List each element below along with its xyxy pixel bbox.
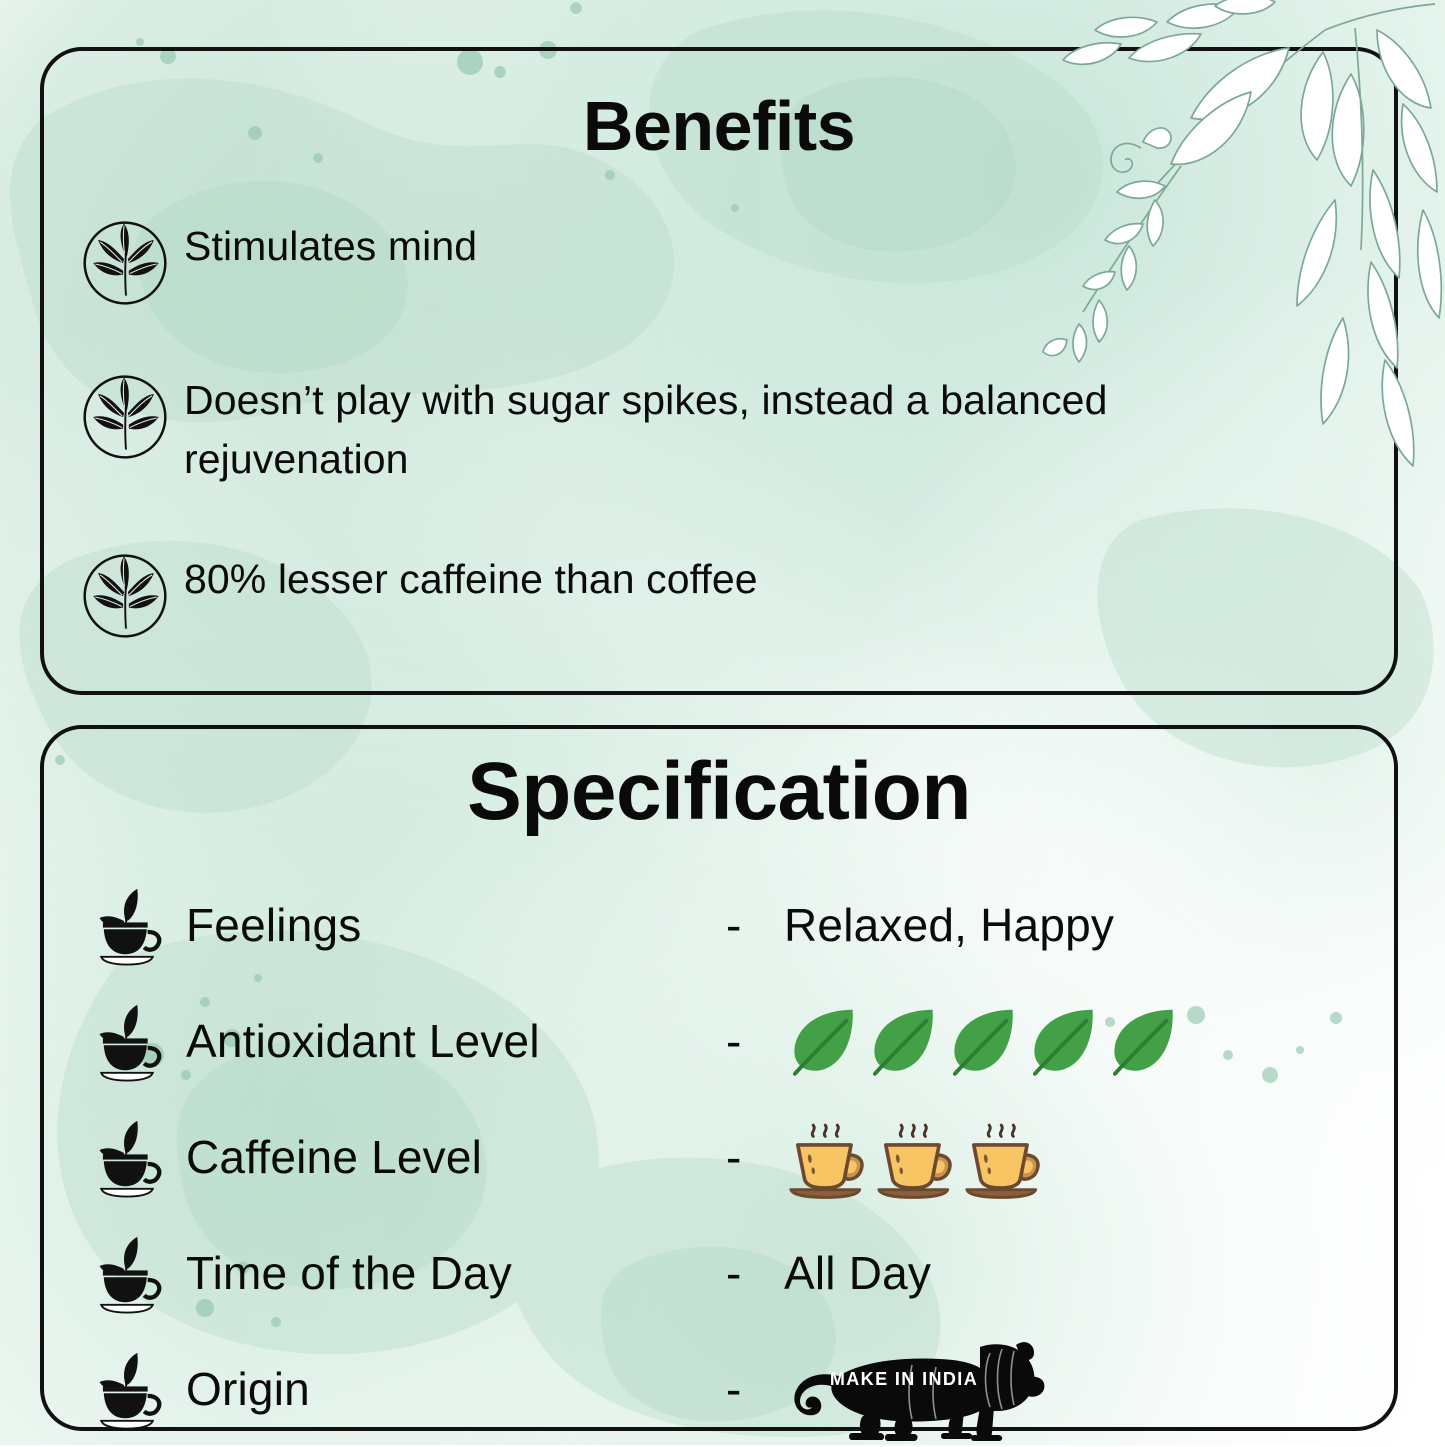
spec-row-feelings: Feelings - Relaxed, Happy bbox=[68, 867, 1394, 983]
tea-leaf-circle-icon bbox=[66, 546, 184, 644]
leaf-rating-icon bbox=[784, 1002, 862, 1080]
leaf-rating-icon bbox=[1024, 1002, 1102, 1080]
teacup-leaf-icon bbox=[68, 882, 186, 968]
spec-label: Feelings bbox=[186, 898, 726, 952]
teacup-leaf-icon bbox=[68, 1230, 186, 1316]
benefit-item: Stimulates mind bbox=[66, 213, 1394, 311]
benefit-item: Doesn’t play with sugar spikes, instead … bbox=[66, 367, 1394, 490]
spec-value-time-of-the-day: All Day bbox=[784, 1246, 931, 1300]
benefits-title: Benefits bbox=[44, 91, 1394, 161]
spec-row-caffeine-level: Caffeine Level - bbox=[68, 1099, 1394, 1215]
specification-rows: Feelings - Relaxed, Happy Ant bbox=[44, 867, 1394, 1447]
benefit-item: 80% lesser caffeine than coffee bbox=[66, 546, 1394, 644]
benefit-text: Doesn’t play with sugar spikes, instead … bbox=[184, 367, 1144, 490]
specification-title: Specification bbox=[44, 751, 1394, 833]
spec-separator: - bbox=[726, 898, 784, 952]
cup-rating-icon bbox=[960, 1114, 1046, 1200]
spec-separator: - bbox=[726, 1362, 784, 1416]
spec-label: Time of the Day bbox=[186, 1246, 726, 1300]
benefits-list: Stimulates mind bbox=[44, 213, 1394, 644]
spec-value-antioxidant-leaf-rating bbox=[784, 1002, 1182, 1080]
spec-label: Origin bbox=[186, 1362, 726, 1416]
specification-card: Specification Feelings - Relax bbox=[40, 725, 1398, 1431]
leaf-rating-icon bbox=[1104, 1002, 1182, 1080]
make-in-india-lion-logo: MAKE IN INDIA bbox=[784, 1333, 1052, 1445]
benefit-text: Stimulates mind bbox=[184, 213, 477, 276]
tea-leaf-circle-icon bbox=[66, 367, 184, 465]
spec-separator: - bbox=[726, 1014, 784, 1068]
spec-value-caffeine-cup-rating bbox=[784, 1114, 1046, 1200]
leaf-rating-icon bbox=[864, 1002, 942, 1080]
spec-value-feelings: Relaxed, Happy bbox=[784, 898, 1114, 952]
teacup-leaf-icon bbox=[68, 1346, 186, 1432]
spec-row-antioxidant-level: Antioxidant Level - bbox=[68, 983, 1394, 1099]
benefits-card: Benefits bbox=[40, 47, 1398, 695]
tea-leaf-circle-icon bbox=[66, 213, 184, 311]
make-in-india-label: MAKE IN INDIA bbox=[830, 1369, 978, 1389]
teacup-leaf-icon bbox=[68, 998, 186, 1084]
spec-label: Caffeine Level bbox=[186, 1130, 726, 1184]
teacup-leaf-icon bbox=[68, 1114, 186, 1200]
spec-separator: - bbox=[726, 1130, 784, 1184]
spec-row-origin: Origin - bbox=[68, 1331, 1394, 1447]
spec-label: Antioxidant Level bbox=[186, 1014, 726, 1068]
cup-rating-icon bbox=[872, 1114, 958, 1200]
cup-rating-icon bbox=[784, 1114, 870, 1200]
spec-row-time-of-the-day: Time of the Day - All Day bbox=[68, 1215, 1394, 1331]
spec-separator: - bbox=[726, 1246, 784, 1300]
leaf-rating-icon bbox=[944, 1002, 1022, 1080]
benefit-text: 80% lesser caffeine than coffee bbox=[184, 546, 758, 609]
